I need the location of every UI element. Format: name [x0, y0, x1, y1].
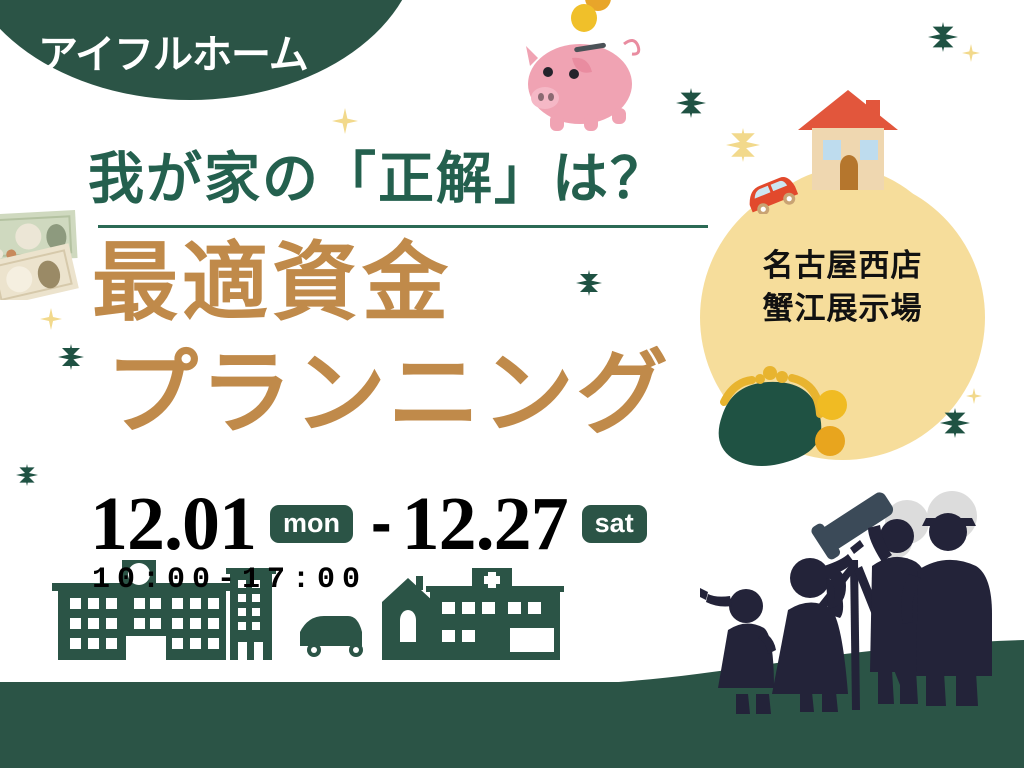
- telescope-family-icon: [700, 470, 1024, 720]
- banknote-icon: [0, 190, 93, 300]
- start-day-badge: mon: [270, 505, 353, 543]
- sparkle-icon: [962, 44, 980, 62]
- sparkle-icon: [576, 270, 602, 296]
- promo-banner: アイフルホーム 名古屋西店 蟹江展示場 我が家の「正解」は？ 最適資金 プランニ…: [0, 0, 1024, 768]
- store-name: 名古屋西店: [700, 245, 985, 288]
- main-title-line2: プランニング: [106, 348, 670, 440]
- sparkle-icon: [16, 464, 38, 486]
- end-day-badge: sat: [582, 505, 647, 543]
- main-title-line1: 最適資金: [92, 240, 452, 326]
- end-date: 12.27: [402, 486, 568, 562]
- house-icon: [790, 82, 910, 192]
- brand-logo[interactable]: アイフルホーム: [38, 22, 308, 80]
- start-date: 12.01: [90, 486, 256, 562]
- sparkle-icon: [726, 128, 760, 162]
- event-time: 10:00-17:00: [92, 563, 367, 597]
- sparkle-icon: [940, 408, 970, 438]
- date-separator: -: [371, 502, 392, 545]
- showroom-name: 蟹江展示場: [700, 288, 985, 331]
- page-headline: 我が家の「正解」は？: [88, 134, 668, 215]
- car-icon: [740, 168, 802, 214]
- sparkle-icon: [40, 308, 62, 330]
- sparkle-icon: [58, 344, 84, 370]
- event-date-range: 12.01 mon - 12.27 sat: [90, 486, 649, 562]
- piggy-bank-icon: [512, 0, 682, 142]
- headline-divider: [98, 225, 708, 228]
- sparkle-icon: [332, 108, 358, 134]
- store-badge-text: 名古屋西店 蟹江展示場: [700, 245, 985, 331]
- coin-purse-icon: [700, 358, 860, 468]
- sparkle-icon: [966, 388, 982, 404]
- sparkle-icon: [928, 22, 958, 52]
